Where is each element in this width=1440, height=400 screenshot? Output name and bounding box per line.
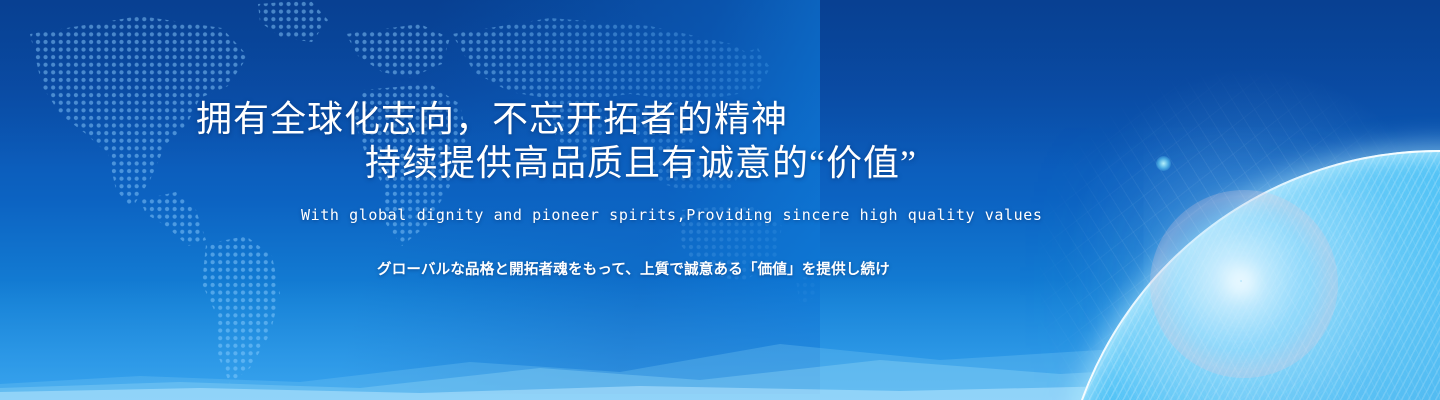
subtitle-japanese: グローバルな品格と開拓者魂をもって、上質で誠意ある「価値」を提供し続け xyxy=(377,258,890,279)
hero-banner: 拥有全球化志向，不忘开拓者的精神 持续提供高品质且有诚意的“价值” With g… xyxy=(0,0,1440,400)
headline-line-2: 持续提供高品质且有诚意的“价值” xyxy=(365,134,917,186)
banner-copy: 拥有全球化志向，不忘开拓者的精神 持续提供高品质且有诚意的“价值” With g… xyxy=(0,0,1440,400)
subtitle-english: With global dignity and pioneer spirits,… xyxy=(301,206,1043,224)
